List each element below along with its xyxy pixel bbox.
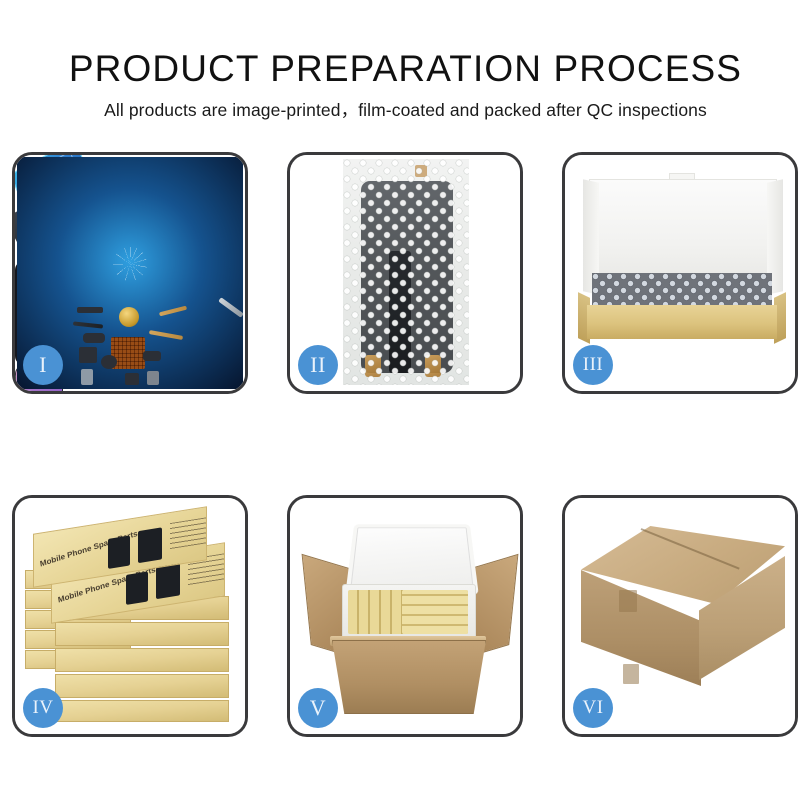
kraft-box-front-3 [55,648,229,672]
step-badge-5: V [298,688,338,728]
page-header: PRODUCT PREPARATION PROCESS All products… [0,0,811,121]
earpiece-speaker-part [77,307,103,313]
kraft-box-front-4 [55,674,229,698]
metal-bracket-part [147,371,159,385]
packed-kraft-boxes-right [402,590,468,634]
process-step-panel-5: V [287,495,523,737]
connector-part [79,347,97,363]
kraft-box-front-2 [55,622,229,646]
page-subtitle: All products are image-printed，film-coat… [0,91,811,121]
vibration-motor-part [119,307,139,327]
process-step-grid: I II III [12,152,799,737]
step-badge-3: III [573,345,613,385]
box-art-screen-2b [156,563,180,599]
bubble-texture [343,159,469,385]
battery-connector-part [143,351,161,361]
step-badge-1: I [23,345,63,385]
step-badge-4: IV [23,688,63,728]
box-spec-lines-1 [170,516,207,549]
speaker-part [101,355,117,369]
box-art-screen-1a [108,535,130,568]
process-step-panel-2: II [287,152,523,394]
small-ic-part [125,373,139,385]
page-title: PRODUCT PREPARATION PROCESS [0,0,811,91]
box-art-screen-2a [126,571,148,604]
bubble-wrapped-contents [592,273,772,307]
camera-module-part [83,333,105,343]
box-lid-back-panel [589,179,777,287]
carton-tape-lower [623,664,639,684]
bubble-wrap-bag [343,159,469,385]
kraft-box-front-5 [55,700,229,722]
step-badge-2: II [298,345,338,385]
sim-tray-part [81,369,93,385]
step-badge-6: VI [573,688,613,728]
process-step-panel-3: III [562,152,798,394]
process-step-panel-6: VI [562,495,798,737]
process-step-panel-4: Mobile Phone Spare Parts Mobile Phone Sp… [12,495,248,737]
carton-body [332,640,486,714]
box-front-panel [587,305,777,339]
carton-tape-upper [619,590,637,612]
box-art-screen-1b [138,527,162,563]
process-step-panel-1: I [12,152,248,394]
